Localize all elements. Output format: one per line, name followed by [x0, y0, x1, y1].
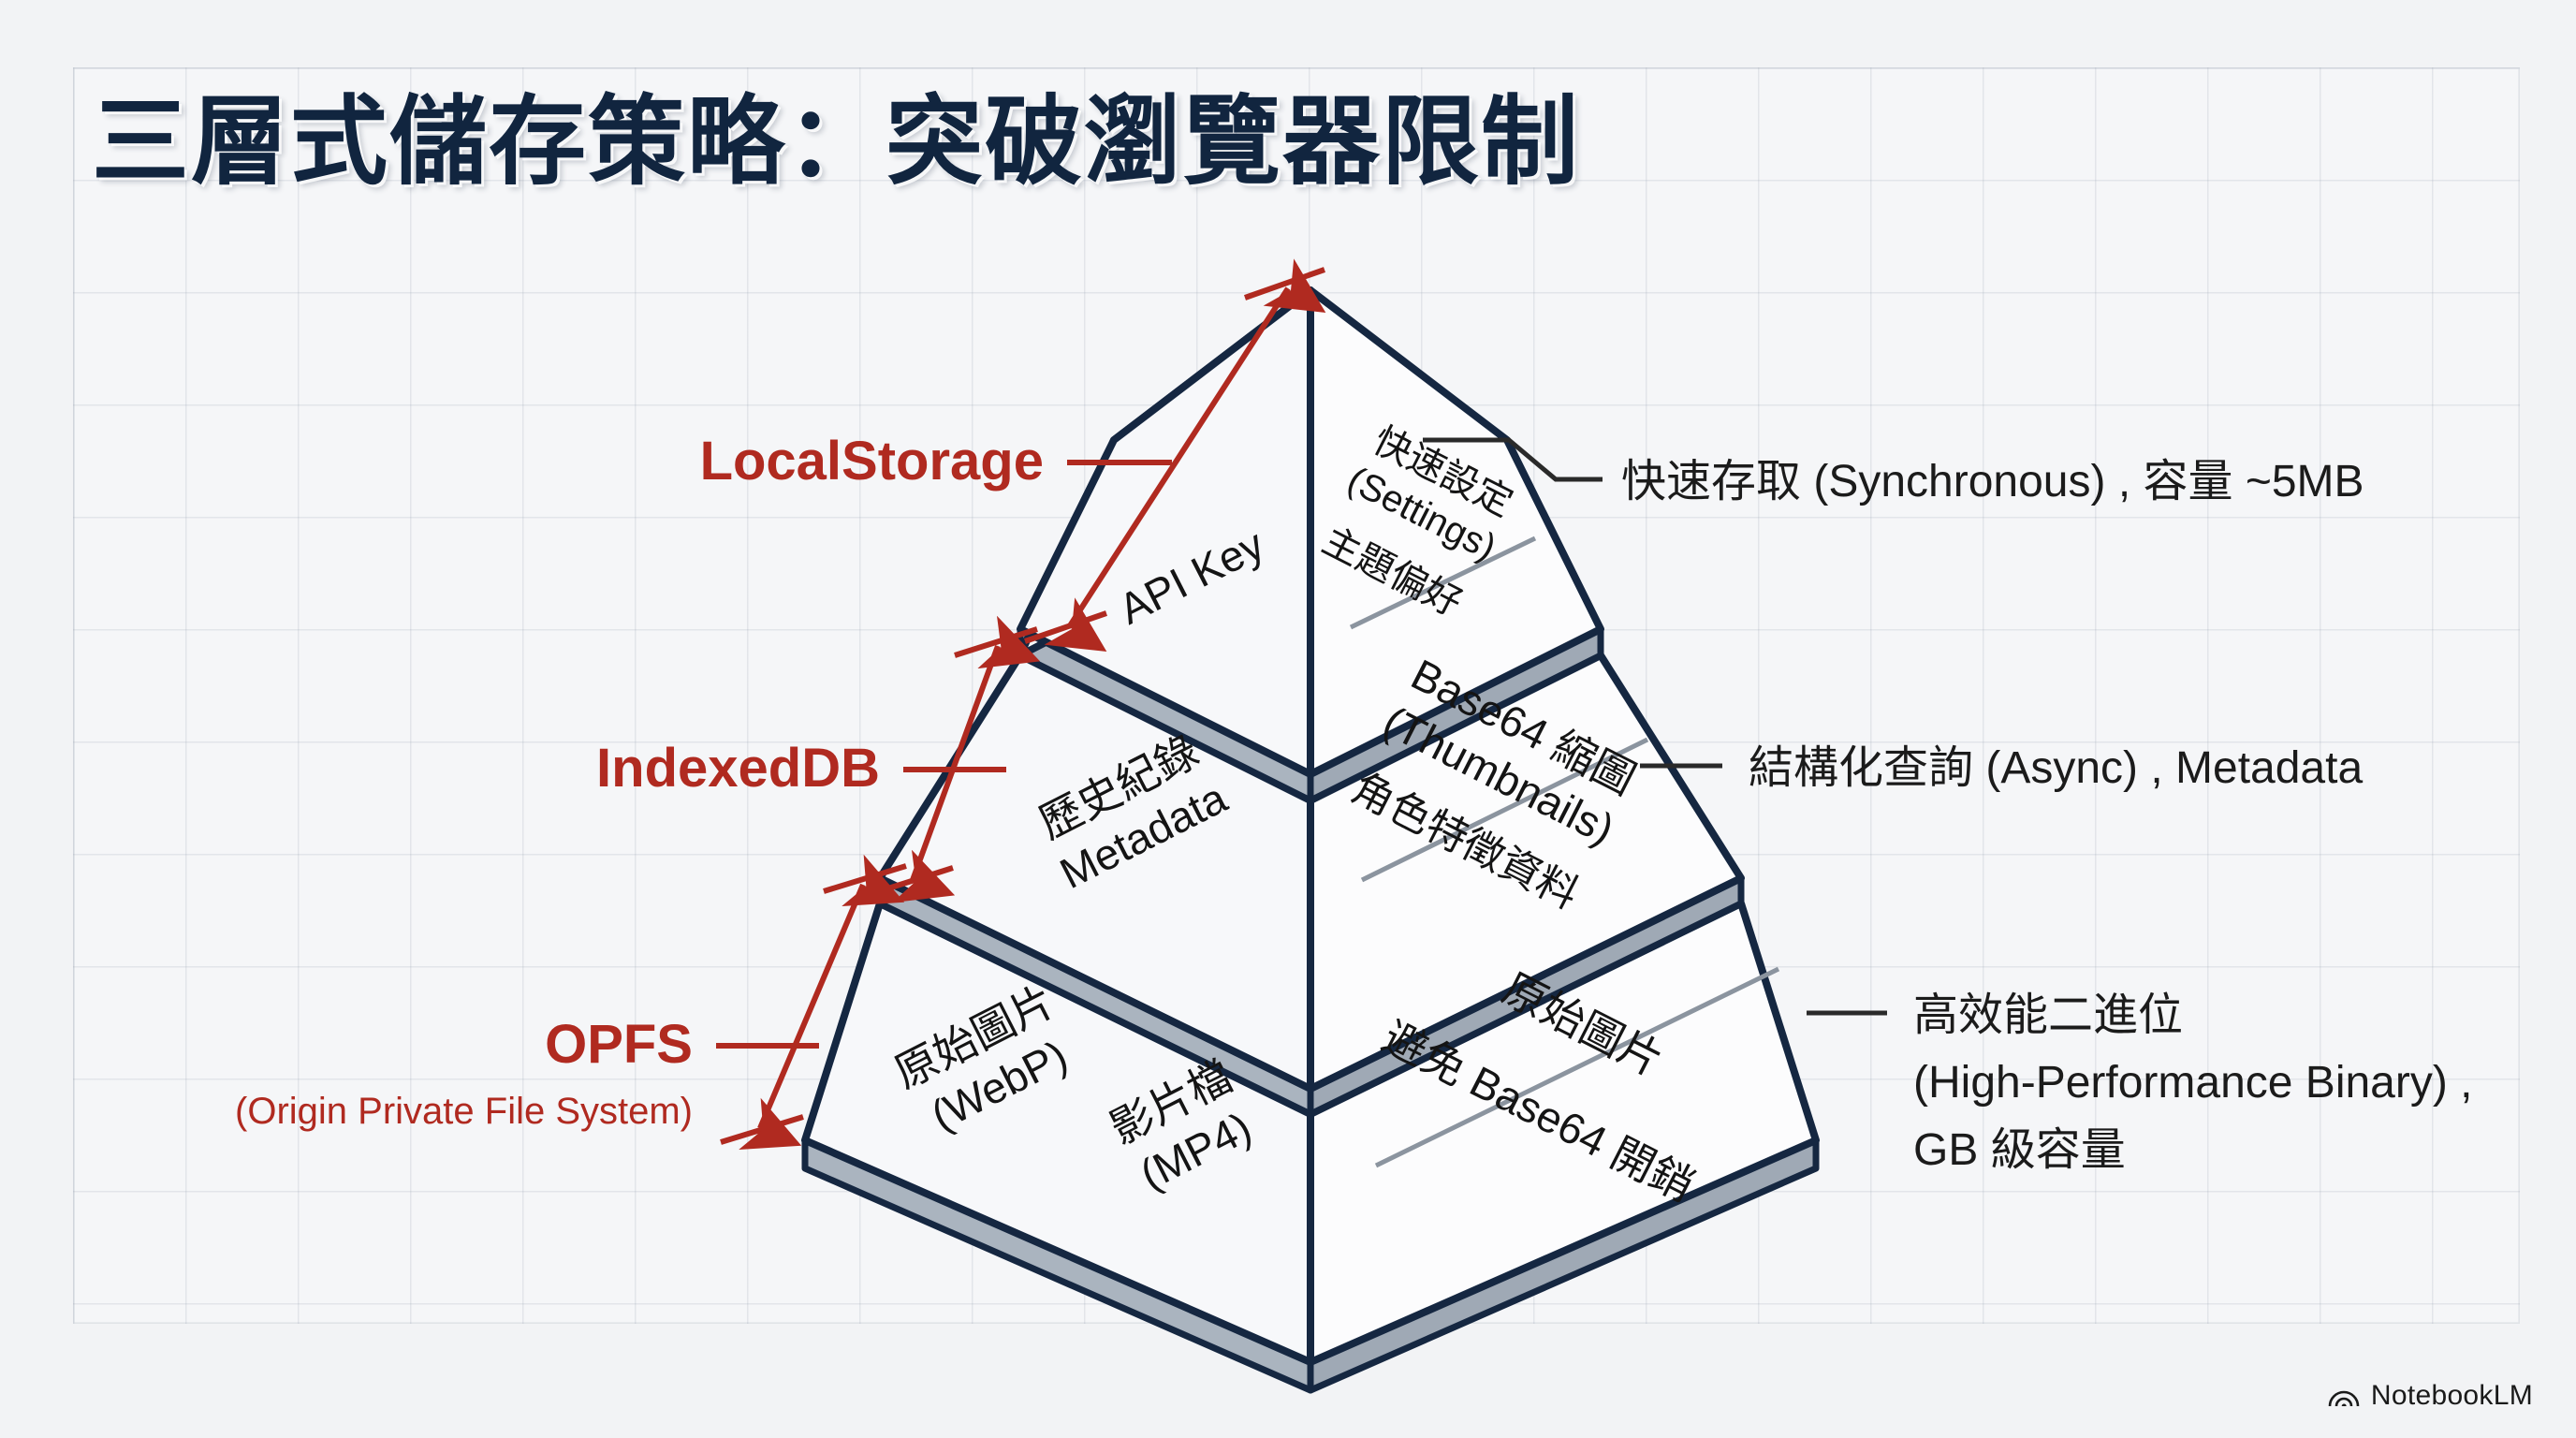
svg-text:快速存取 (Synchronous) , 容量 ~5MB: 快速存取 (Synchronous) , 容量 ~5MB — [1621, 457, 2364, 506]
tier-label-opfs[interactable]: OPFS (Origin Private File System) — [235, 1014, 819, 1132]
pyramid-diagram: API Key 快速設定 (Settings) 主題偏好 歷史紀錄 Metada… — [0, 0, 2576, 1438]
notebooklm-spiral-icon — [2328, 1384, 2360, 1408]
svg-text:GB 級容量: GB 級容量 — [1913, 1125, 2126, 1175]
svg-text:OPFS: OPFS — [545, 1014, 693, 1075]
svg-text:高效能二進位: 高效能二進位 — [1913, 990, 2183, 1040]
watermark-label: NotebookLM — [2371, 1380, 2533, 1412]
svg-text:(Origin Private File System): (Origin Private File System) — [235, 1091, 693, 1132]
svg-text:IndexedDB: IndexedDB — [596, 738, 880, 799]
svg-text:結構化查詢 (Async) , Metadata: 結構化查詢 (Async) , Metadata — [1749, 743, 2363, 793]
annotation-top: 快速存取 (Synchronous) , 容量 ~5MB — [1423, 440, 2364, 506]
watermark: NotebookLM — [2328, 1380, 2533, 1412]
annotation-bottom: 高效能二進位 (High-Performance Binary) , GB 級容… — [1807, 990, 2473, 1175]
annotation-middle: 結構化查詢 (Async) , Metadata — [1640, 743, 2363, 793]
svg-text:LocalStorage: LocalStorage — [700, 431, 1044, 492]
svg-text:(High-Performance Binary) ,: (High-Performance Binary) , — [1913, 1058, 2473, 1108]
